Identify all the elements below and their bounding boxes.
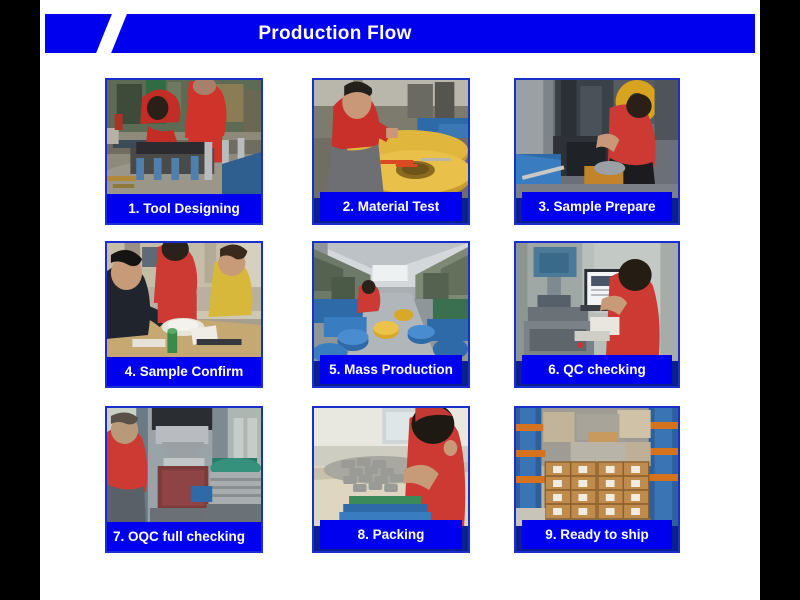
step-caption: 1. Tool Designing: [107, 194, 261, 223]
grid-row: 1. Tool Designing: [40, 78, 760, 228]
process-step-card[interactable]: 2. Material Test: [312, 78, 470, 225]
grid-row: 4. Sample Confirm: [40, 241, 760, 391]
step-caption: 8. Packing: [320, 520, 462, 549]
page-title: Production Flow: [45, 14, 755, 53]
step-photo-oqc-full-checking: [107, 408, 261, 526]
step-caption: 9. Ready to ship: [522, 520, 672, 549]
process-step-card[interactable]: 6. QC checking: [514, 241, 680, 388]
step-caption: 4. Sample Confirm: [107, 357, 261, 386]
grid-row: 7. OQC full checking: [40, 406, 760, 556]
header-banner: Production Flow: [45, 14, 755, 53]
step-photo-qc-checking: [516, 243, 678, 361]
step-caption: 6. QC checking: [522, 355, 672, 384]
process-step-card[interactable]: 1. Tool Designing: [105, 78, 263, 225]
slide-screen: Production Flow: [0, 0, 800, 600]
slide-canvas: Production Flow: [40, 0, 760, 600]
step-photo-ready-to-ship: [516, 408, 678, 526]
step-caption: 5. Mass Production: [320, 355, 462, 384]
step-photo-material-test: [314, 80, 468, 198]
step-caption: 3. Sample Prepare: [522, 192, 672, 221]
step-caption: 2. Material Test: [320, 192, 462, 221]
process-step-card[interactable]: 7. OQC full checking: [105, 406, 263, 553]
process-step-grid: 1. Tool Designing: [40, 78, 760, 578]
process-step-card[interactable]: 9. Ready to ship: [514, 406, 680, 553]
step-photo-sample-prepare: [516, 80, 678, 198]
step-photo-mass-production: [314, 243, 468, 361]
process-step-card[interactable]: 8. Packing: [312, 406, 470, 553]
step-photo-sample-confirm: [107, 243, 261, 361]
process-step-card[interactable]: 4. Sample Confirm: [105, 241, 263, 388]
step-caption: 7. OQC full checking: [107, 522, 261, 551]
step-photo-packing: [314, 408, 468, 526]
step-photo-tool-designing: [107, 80, 261, 198]
process-step-card[interactable]: 3. Sample Prepare: [514, 78, 680, 225]
process-step-card[interactable]: 5. Mass Production: [312, 241, 470, 388]
